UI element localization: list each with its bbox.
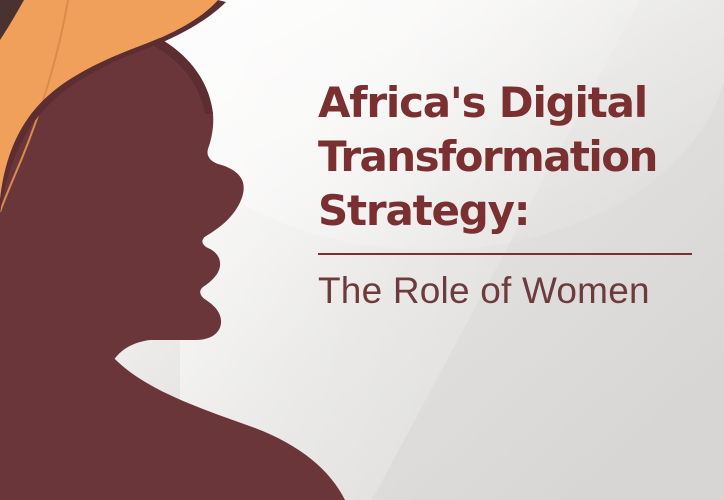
title-block: Africa's Digital Transformation Strategy…: [318, 76, 710, 313]
headline-line-1: Africa's Digital: [318, 76, 710, 130]
headline-line-2: Transformation: [318, 130, 710, 184]
title-divider: [318, 253, 692, 255]
poster-subtitle: The Role of Women: [318, 269, 710, 313]
headline-line-3: Strategy:: [318, 184, 710, 238]
poster-canvas: Africa's Digital Transformation Strategy…: [0, 0, 724, 500]
